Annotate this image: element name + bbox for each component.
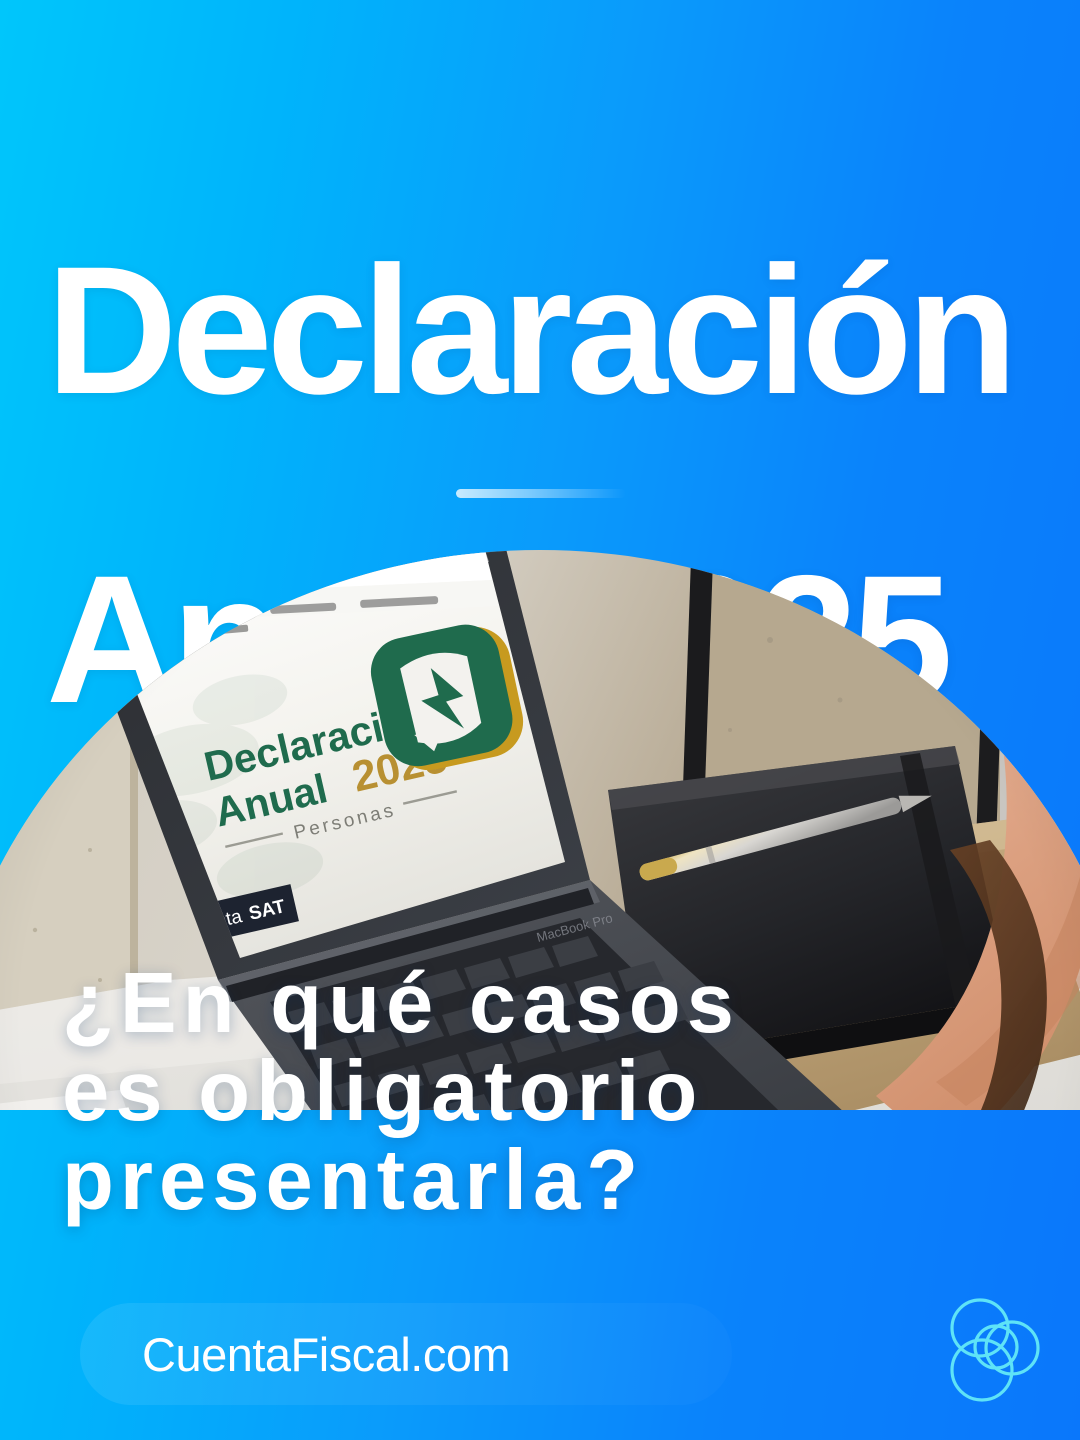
brand-label: CuentaFiscal.com xyxy=(80,1303,732,1405)
title-divider xyxy=(456,489,626,498)
poster-canvas: Declaración Anual 2025 xyxy=(0,0,1080,1440)
headline-line-1: Declaración xyxy=(46,254,1046,408)
four-overlapping-circles-icon xyxy=(938,1290,1050,1412)
brand-pill[interactable]: CuentaFiscal.com xyxy=(80,1303,732,1405)
subheading: ¿En qué casos es obligatorio presentarla… xyxy=(62,960,1022,1225)
